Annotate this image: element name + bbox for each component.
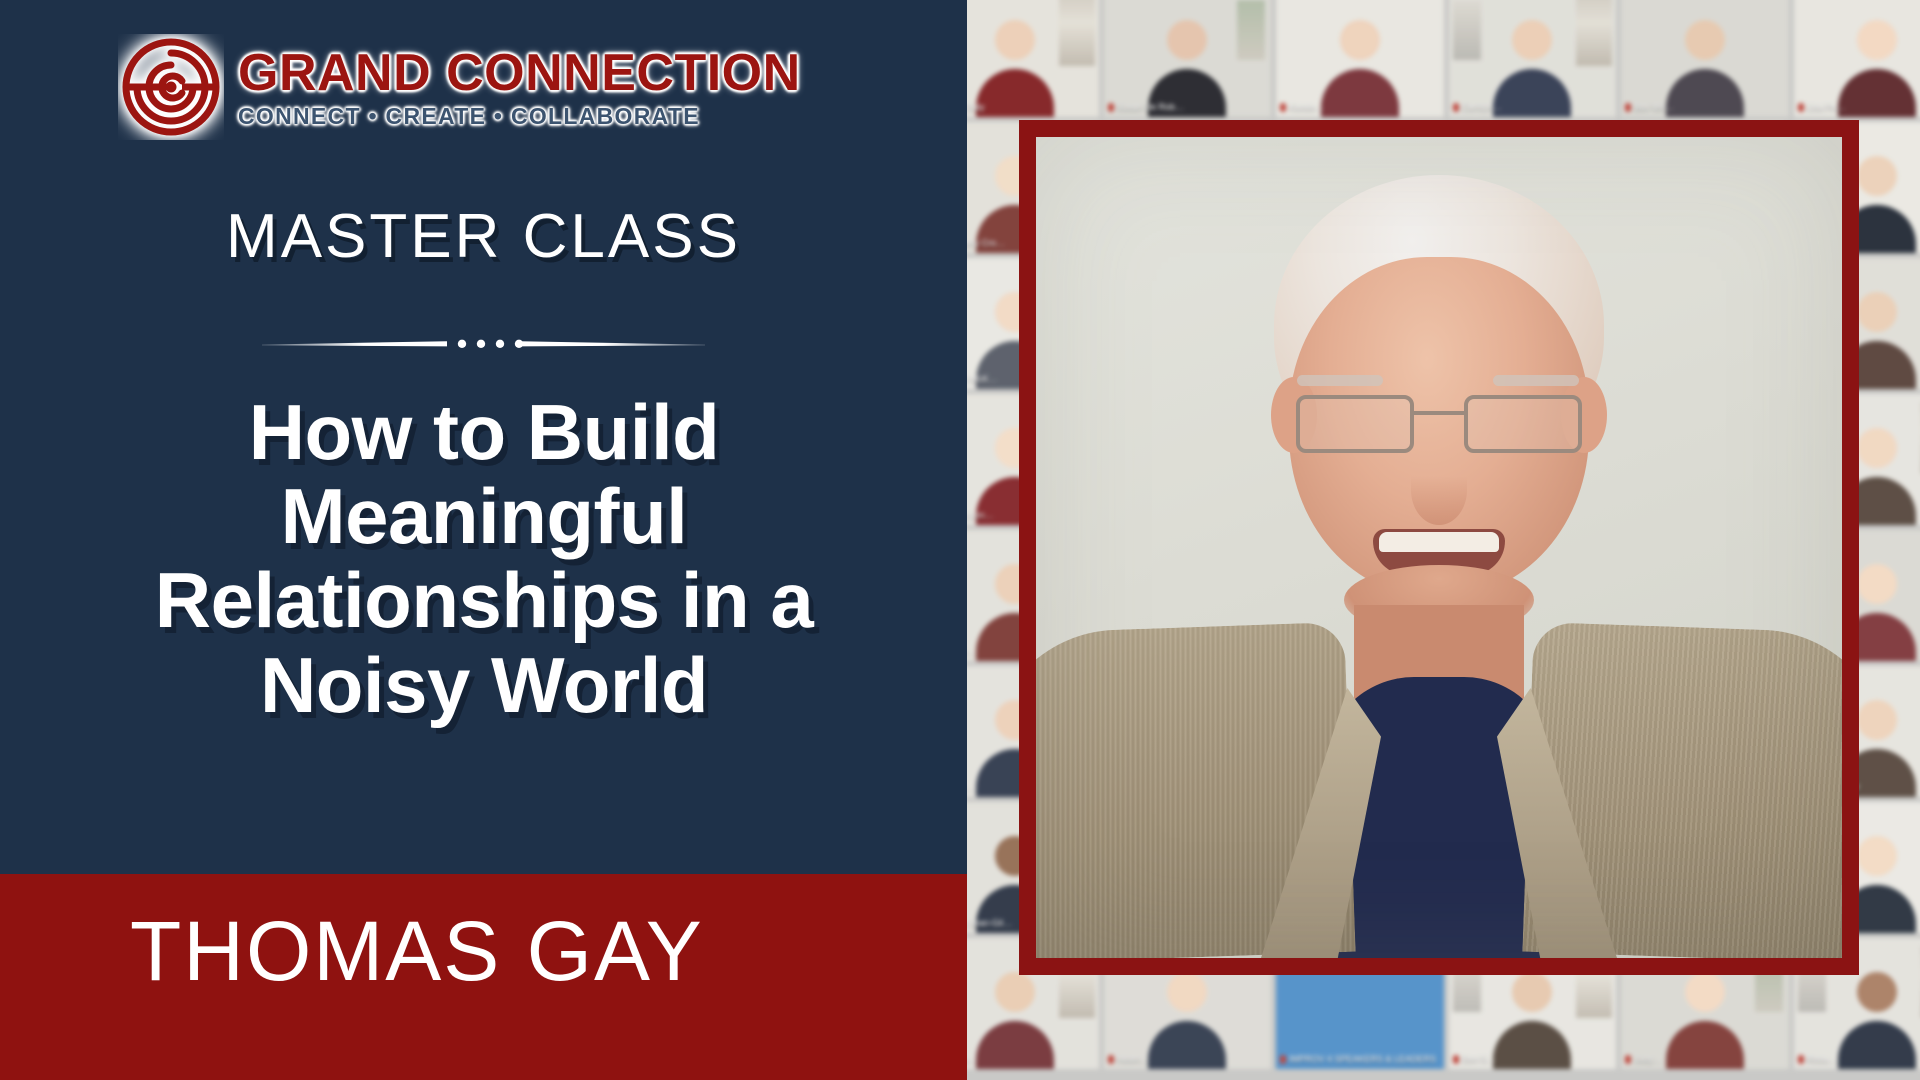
participant-name-text: Susan De Rob… (1117, 102, 1185, 112)
speaker-photo (1036, 137, 1842, 958)
microphone-muted-icon (1453, 1055, 1459, 1064)
participant-head (1857, 292, 1897, 332)
participant-name-label: Judy… (1625, 1052, 1785, 1066)
participant-name-text: Bev Wil… (1634, 102, 1674, 112)
participant-head (1857, 564, 1897, 604)
participant-head (1857, 428, 1897, 468)
microphone-muted-icon (1108, 103, 1114, 112)
participant-tile: Lisa Pe… (1794, 0, 1920, 117)
participant-name-text: Kimberly Cro… (967, 238, 1005, 248)
participant-name-text: IMPROV 4 SPEAKERS & LEADERS (1289, 1054, 1436, 1064)
participant-name-text: Betty… (967, 782, 974, 792)
participant-name-text: Rosa… (1807, 1054, 1837, 1064)
eyebrow-label: MASTER CLASS (0, 206, 967, 268)
microphone-muted-icon (1798, 1055, 1804, 1064)
microphone-muted-icon (1108, 1055, 1114, 1064)
participant-name-text: Helen… (1117, 1054, 1150, 1064)
participant-name-label: Karale… (1280, 100, 1440, 114)
microphone-muted-icon (1280, 103, 1286, 112)
participant-name-text: Judy… (1634, 1054, 1662, 1064)
participant-name-label: Gloria… (967, 1052, 1095, 1066)
participant-name-text: Sherri McK… (967, 374, 998, 384)
participant-head (1685, 972, 1725, 1012)
microphone-muted-icon (1625, 1055, 1631, 1064)
brand-name: GRAND CONNECTION (238, 47, 801, 99)
participant-name-text: Sadie Jean-Gil… (967, 918, 1012, 928)
participant-name-label: Carolyn… (1453, 100, 1613, 114)
master-class-promo-graphic: Ellen DalySusan De Rob…Karale…Carolyn…Be… (0, 0, 1920, 1080)
participant-name-text: Karale… (1289, 102, 1324, 112)
microphone-muted-icon (1798, 103, 1804, 112)
background-wall-art (1453, 0, 1481, 60)
left-content-panel: GRAND CONNECTION CONNECT • CREATE • COLL… (0, 0, 967, 874)
headline-line-2: Meaningful (44, 474, 924, 558)
microphone-muted-icon (1625, 103, 1631, 112)
participant-head (1857, 836, 1897, 876)
page-title: How to Build Meaningful Relationships in… (44, 390, 924, 727)
participant-name-label: IMPROV 4 SPEAKERS & LEADERS (1280, 1052, 1440, 1066)
speaker-name: THOMAS GAY (0, 909, 967, 993)
background-bookshelf (1059, 0, 1095, 66)
participant-name-label: Rosa… (1798, 1052, 1920, 1066)
participant-name-text: Ellen Daly (967, 102, 985, 112)
background-plant (1237, 0, 1265, 60)
participant-tile: Karale… (1276, 0, 1444, 117)
participant-head (1857, 700, 1897, 740)
headline-line-3: Relationships in a (44, 558, 924, 642)
tapered-line-with-dots-divider-icon (0, 330, 967, 358)
participant-name-label: Bev Wil… (1625, 100, 1785, 114)
brand-wordmark: GRAND CONNECTION CONNECT • CREATE • COLL… (238, 47, 801, 128)
participant-head (1167, 20, 1207, 60)
participant-head (1857, 20, 1897, 60)
participant-name-text: Don S… (1462, 1054, 1496, 1064)
participant-head (1340, 20, 1380, 60)
participant-name-label: Ellen Daly (967, 100, 1095, 114)
participant-name-text: Laura Lon… (967, 510, 994, 520)
participant-name-text: Dicke… (967, 646, 976, 656)
participant-tile: Ellen Daly (967, 0, 1099, 117)
participant-name-text: Carolyn… (1462, 102, 1502, 112)
participant-head (1857, 972, 1897, 1012)
participant-name-text: Gloria… (967, 1054, 977, 1064)
participant-head (1857, 156, 1897, 196)
participant-head (995, 972, 1035, 1012)
participant-name-label: Helen… (1108, 1052, 1268, 1066)
participant-name-label: Don S… (1453, 1052, 1613, 1066)
participant-name-label: Lisa Pe… (1798, 100, 1920, 114)
microphone-muted-icon (1280, 1055, 1286, 1064)
participant-tile: Bev Wil… (1621, 0, 1789, 117)
participant-tile: Susan De Rob… (1104, 0, 1272, 117)
participant-head (1512, 20, 1552, 60)
microphone-muted-icon (1453, 103, 1459, 112)
participant-tile: Carolyn… (1449, 0, 1617, 117)
participant-head (1685, 20, 1725, 60)
brand-tagline: CONNECT • CREATE • COLLABORATE (238, 105, 801, 128)
photo-vignette (1036, 137, 1842, 958)
participant-name-text: Lisa Pe… (1807, 102, 1846, 112)
participant-name-label: Susan De Rob… (1108, 100, 1268, 114)
headline-line-4: Noisy World (44, 643, 924, 727)
concentric-spiral-target-icon (118, 34, 224, 140)
participant-head (1512, 972, 1552, 1012)
participant-head (1167, 972, 1207, 1012)
speaker-photo-frame (1019, 120, 1859, 975)
participant-head (995, 20, 1035, 60)
background-bookshelf (1576, 0, 1612, 66)
headline-line-1: How to Build (44, 390, 924, 474)
brand-logo: GRAND CONNECTION CONNECT • CREATE • COLL… (118, 34, 801, 140)
